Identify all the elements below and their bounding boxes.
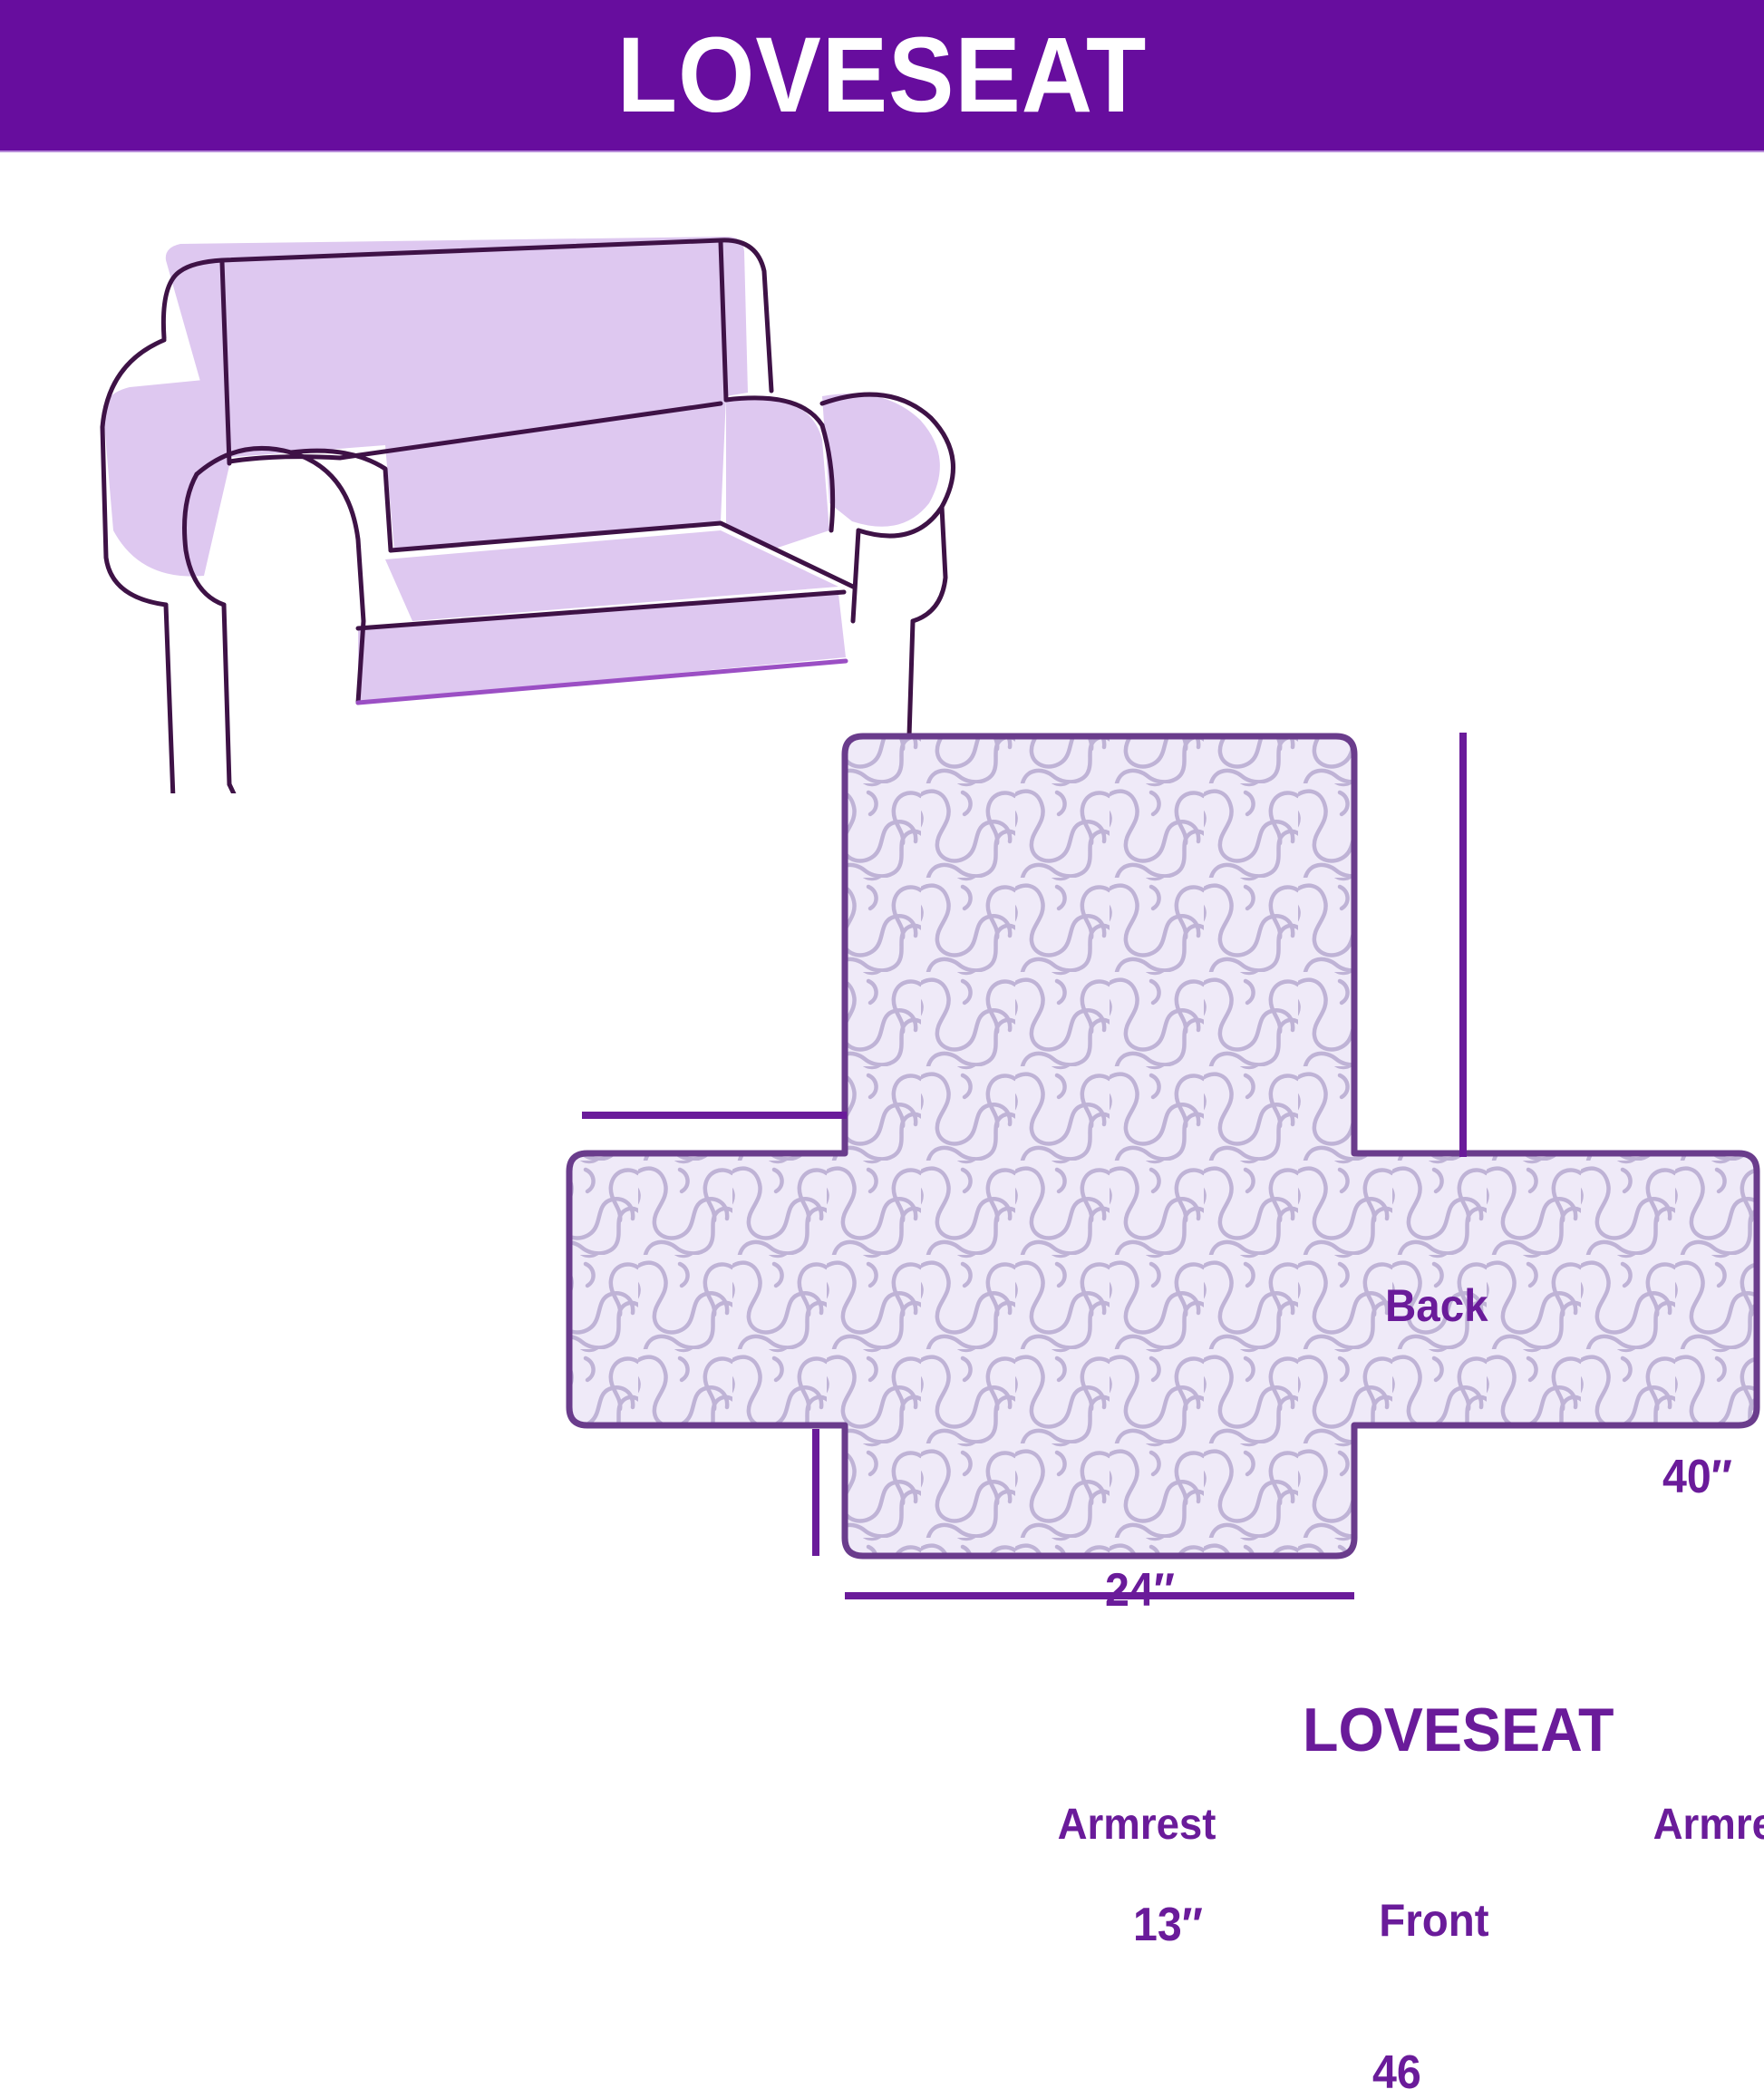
diagram-canvas: LOVESEAT xyxy=(0,0,1764,1764)
panel-label-armrest-right: Armrest xyxy=(1653,1803,1764,1847)
cover-pattern-diagram: Back LOVESEAT Armrest Armrest Front 40″ … xyxy=(544,689,1764,1764)
dimension-label-back-height: 40″ xyxy=(1662,1453,1732,1501)
panel-label-front: Front xyxy=(1379,1898,1488,1943)
dimension-label-back-offset: 24″ xyxy=(1105,1567,1175,1614)
panel-label-back: Back xyxy=(1385,1283,1488,1328)
dimension-label-total-width: 46 xyxy=(1372,2049,1421,2096)
page-title: LOVESEAT xyxy=(71,0,1693,151)
dimension-label-front-height: 13″ xyxy=(1133,1901,1203,1948)
panel-label-armrest-left: Armrest xyxy=(1058,1803,1216,1847)
header-bar: LOVESEAT xyxy=(0,0,1764,151)
panel-label-center: LOVESEAT xyxy=(1303,1699,1614,1761)
